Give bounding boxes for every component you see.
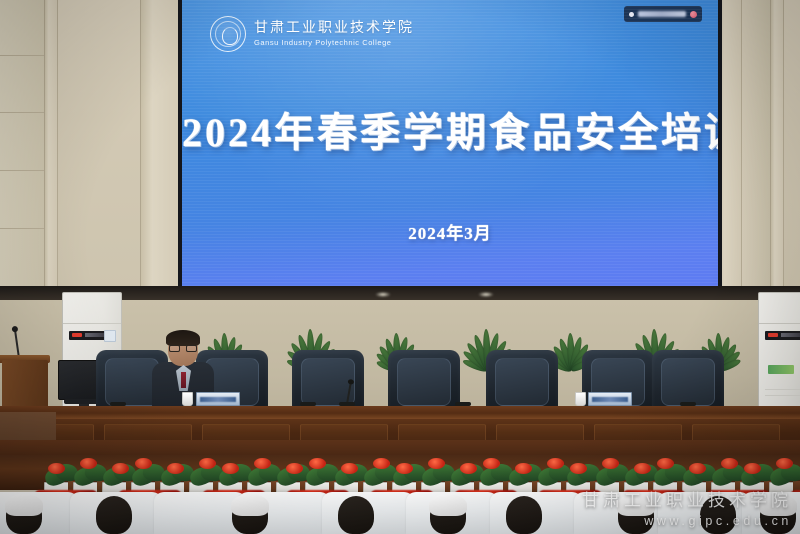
poinsettia-bloom xyxy=(286,463,303,474)
poinsettia-bloom xyxy=(199,458,216,469)
screen-subtitle: 2024年3月 xyxy=(182,219,718,244)
screen-osd-widget xyxy=(624,6,702,22)
poinsettia-bloom xyxy=(341,463,358,474)
poinsettia-bloom xyxy=(744,463,761,474)
audience-head xyxy=(338,496,374,534)
osd-record-dot xyxy=(690,11,697,18)
wall-pilaster xyxy=(140,0,180,300)
poinsettia-bloom xyxy=(570,463,587,474)
screen-title: 2024年春季学期食品安全培训会 xyxy=(182,100,718,158)
wall-panel-left xyxy=(0,0,44,300)
speaker-tie xyxy=(181,372,186,388)
osd-status-dot xyxy=(629,12,634,17)
speaker-glasses xyxy=(169,345,197,352)
white-cap xyxy=(5,494,43,516)
wall-pilaster xyxy=(770,0,784,300)
desk-microphone-base xyxy=(110,402,126,406)
poinsettia-bloom xyxy=(48,463,65,474)
head-table-chair xyxy=(388,350,460,412)
desk-microphone-base xyxy=(339,402,355,406)
college-crest-icon xyxy=(210,16,246,52)
poinsettia-bloom xyxy=(373,458,390,469)
head-table-top xyxy=(0,406,800,419)
desk-microphone-base xyxy=(680,402,696,406)
head-table-chair xyxy=(486,350,558,412)
poinsettia-bloom xyxy=(254,458,271,469)
poinsettia-bloom xyxy=(515,463,532,474)
poinsettia-bloom xyxy=(80,458,97,469)
poinsettia-bloom xyxy=(428,458,445,469)
college-name-cn: 甘肃工业职业技术学院 xyxy=(254,21,414,36)
poinsettia-bloom xyxy=(483,458,500,469)
college-name-en: Gansu Industry Polytechnic College xyxy=(254,38,414,47)
poinsettia-bloom xyxy=(776,458,793,469)
auditorium-photo: 甘肃工业职业技术学院 Gansu Industry Polytechnic Co… xyxy=(0,0,800,534)
poinsettia-bloom xyxy=(721,458,738,469)
wall-pilaster xyxy=(44,0,58,300)
poinsettia-bloom xyxy=(222,463,239,474)
white-cap xyxy=(231,494,269,516)
led-screen: 甘肃工业职业技术学院 Gansu Industry Polytechnic Co… xyxy=(182,0,718,286)
osd-label-blurred xyxy=(638,11,686,17)
nameplate xyxy=(588,392,632,406)
audience-head xyxy=(96,496,132,534)
speaker-hair xyxy=(166,330,200,346)
desk-microphone-base xyxy=(300,402,316,406)
college-logo: 甘肃工业职业技术学院 Gansu Industry Polytechnic Co… xyxy=(210,16,414,52)
air-conditioner-right xyxy=(758,292,800,414)
poinsettia-bloom xyxy=(309,458,326,469)
white-cap xyxy=(759,494,797,516)
water-cup xyxy=(182,392,193,406)
poinsettia-bloom xyxy=(396,463,413,474)
poinsettia-bloom xyxy=(112,463,129,474)
audience-head xyxy=(700,496,736,534)
poinsettia-bloom xyxy=(602,458,619,469)
audience-row xyxy=(0,492,800,534)
lectern xyxy=(2,360,48,412)
poinsettia-bloom xyxy=(547,458,564,469)
desk-microphone-base xyxy=(455,402,471,406)
poinsettia-bloom xyxy=(460,463,477,474)
nameplate xyxy=(196,392,240,406)
poinsettia-bloom xyxy=(167,463,184,474)
poinsettia-bloom xyxy=(657,458,674,469)
water-cup xyxy=(575,392,586,406)
poinsettia-bloom xyxy=(135,458,152,469)
audience-head xyxy=(506,496,542,534)
poinsettia-bloom xyxy=(689,463,706,474)
white-cap xyxy=(617,494,655,516)
poinsettia-bloom xyxy=(634,463,651,474)
wall-panel-right xyxy=(742,0,770,300)
white-cap xyxy=(429,494,467,516)
